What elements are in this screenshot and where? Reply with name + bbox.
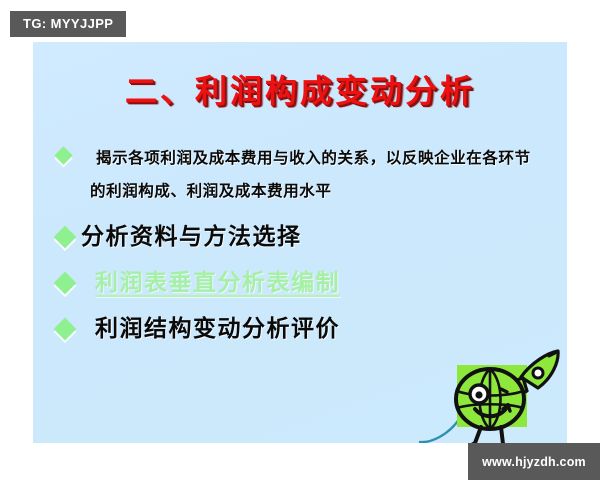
diamond-bullet-icon: [57, 321, 73, 337]
globe-character-with-rocket-icon: [445, 347, 567, 443]
bullet-materials-methods-text: 分析资料与方法选择: [81, 220, 302, 254]
bullet-overview-text: 揭示各项利润及成本费用与收入的关系，以反映企业在各环节的利润构成、利润及成本费用…: [90, 142, 543, 208]
bullet-item-structure-evaluation: 利润结构变动分析评价: [57, 312, 543, 346]
vertical-analysis-hyperlink[interactable]: 利润表垂直分析表编制: [95, 266, 340, 300]
diamond-bullet-icon: [57, 149, 70, 162]
presentation-slide: 二、利润构成变动分析 揭示各项利润及成本费用与收入的关系，以反映企业在各环节的利…: [33, 42, 567, 443]
diamond-bullet-icon: [57, 275, 73, 291]
bullet-item-materials-methods: 分析资料与方法选择: [57, 220, 543, 254]
bullet-item-overview: 揭示各项利润及成本费用与收入的关系，以反映企业在各环节的利润构成、利润及成本费用…: [57, 142, 543, 208]
tg-tag-badge: TG: MYYJJPP: [10, 11, 126, 37]
bullet-item-vertical-analysis-link[interactable]: 利润表垂直分析表编制: [57, 266, 543, 300]
site-url-badge: www.hjyzdh.com: [468, 443, 600, 480]
diamond-bullet-icon: [57, 229, 73, 245]
slide-title: 二、利润构成变动分析: [33, 66, 567, 112]
bullet-structure-evaluation-text: 利润结构变动分析评价: [95, 312, 340, 346]
slide-screenshot: TG: MYYJJPP 二、利润构成变动分析 揭示各项利润及成本费用与收入的关系…: [0, 0, 600, 480]
slide-body: 揭示各项利润及成本费用与收入的关系，以反映企业在各环节的利润构成、利润及成本费用…: [57, 142, 543, 346]
